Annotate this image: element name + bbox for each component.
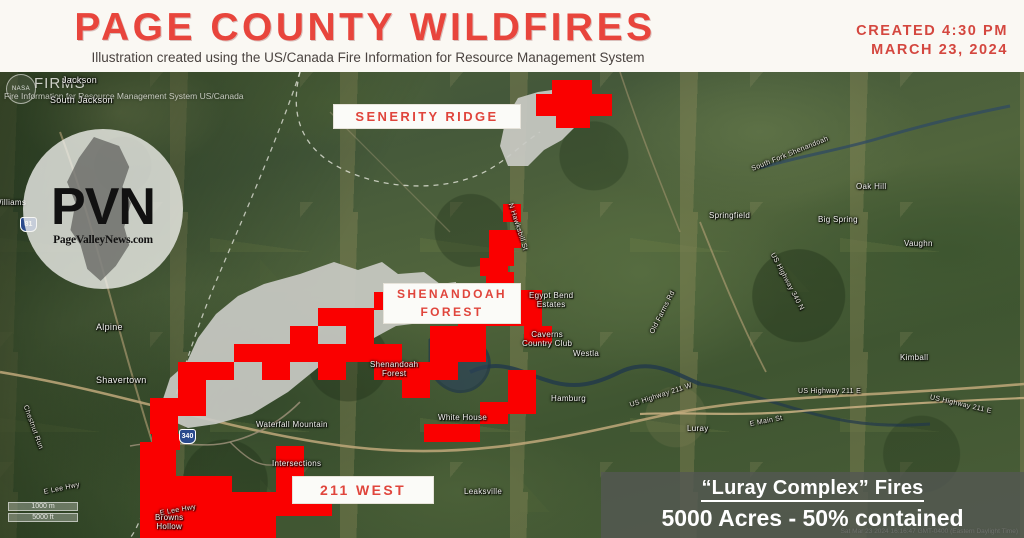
map-place-label: Jackson <box>62 75 97 85</box>
map-place-label: Big Spring <box>818 215 858 224</box>
pvn-logo: PVN PageValleyNews.com <box>23 129 183 289</box>
map-place-label: Alpine <box>96 322 123 332</box>
map-canvas[interactable]: NASA FIRMS Fire Information for Resource… <box>0 72 1024 538</box>
legend-panel: “Luray Complex” Fires 5000 Acres - 50% c… <box>601 472 1024 538</box>
map-callout-label: SENERITY RIDGE <box>333 104 521 129</box>
header-bar: PAGE COUNTY WILDFIRES Illustration creat… <box>0 0 1024 72</box>
map-place-label: Leaksville <box>464 487 502 496</box>
map-place-label: ShenandoahForest <box>370 360 418 378</box>
map-place-label: South Jackson <box>50 95 113 105</box>
map-place-label: Waterfall Mountain <box>256 420 328 429</box>
page-title: PAGE COUNTY WILDFIRES <box>0 8 730 48</box>
map-place-label: Westla <box>573 349 599 358</box>
created-line: CREATED 4:30 PM <box>788 22 1008 41</box>
map-place-label: Oak Hill <box>856 182 886 191</box>
scale-imperial: 5000 ft <box>8 513 78 522</box>
legend-title: “Luray Complex” Fires <box>601 477 1024 500</box>
map-place-label: Intersections <box>272 459 321 468</box>
highway-shield-icon: 340 <box>179 429 196 444</box>
pvn-website-label: PageValleyNews.com <box>23 234 183 246</box>
created-line: MARCH 23, 2024 <box>788 41 1008 60</box>
map-place-label: Kimball <box>900 353 928 362</box>
legend-subtitle: 5000 Acres - 50% contained <box>601 505 1024 532</box>
created-timestamp: CREATED 4:30 PMMARCH 23, 2024 <box>788 22 1008 60</box>
map-road-label: US Highway 211 E <box>798 388 861 395</box>
map-place-label: CavernsCountry Club <box>522 330 572 348</box>
map-place-label: Shavertown <box>96 375 147 385</box>
map-place-label: Springfield <box>709 211 750 220</box>
map-place-label: Luray <box>687 424 709 433</box>
map-callout-label: SHENANDOAHFOREST <box>383 283 521 324</box>
pvn-monogram: PVN <box>23 181 183 233</box>
map-place-label: Hamburg <box>551 394 586 403</box>
map-place-label: Egypt BendEstates <box>529 291 573 309</box>
firms-watermark: NASA FIRMS Fire Information for Resource… <box>4 74 254 110</box>
wildfire-map-graphic: PAGE COUNTY WILDFIRES Illustration creat… <box>0 0 1024 538</box>
map-place-label: Vaughn <box>904 239 933 248</box>
map-callout-label: 211 WEST <box>292 476 434 504</box>
legend-title-text: “Luray Complex” Fires <box>701 477 923 502</box>
scale-metric: 1000 m <box>8 502 78 511</box>
page-subtitle: Illustration created using the US/Canada… <box>0 50 736 65</box>
firms-sublabel: Fire Information for Resource Management… <box>4 91 244 101</box>
map-place-label: White House <box>438 413 487 422</box>
map-place-label: BrownsHollow <box>155 513 183 531</box>
map-scale-bar: 1000 m 5000 ft <box>8 502 78 524</box>
